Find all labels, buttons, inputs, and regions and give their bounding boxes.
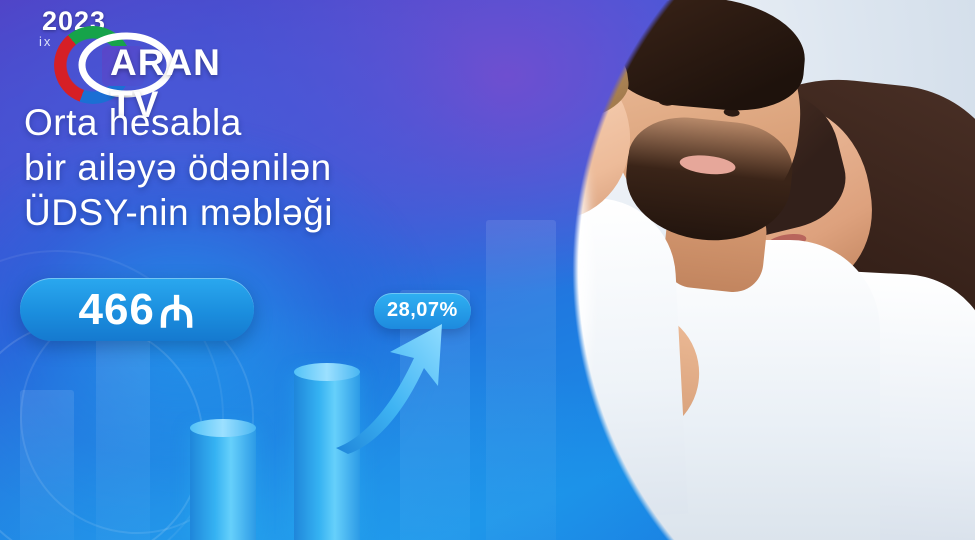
bar-chart <box>0 0 460 540</box>
bar-previous <box>190 428 256 540</box>
bar-previous-cap <box>190 419 256 437</box>
growth-arrow-icon <box>330 320 460 455</box>
family-photo <box>430 0 975 540</box>
infographic-canvas: 2023 ix ARAN TV Orta hesabla bir ailəyə … <box>0 0 975 540</box>
father-mouth <box>679 153 737 177</box>
